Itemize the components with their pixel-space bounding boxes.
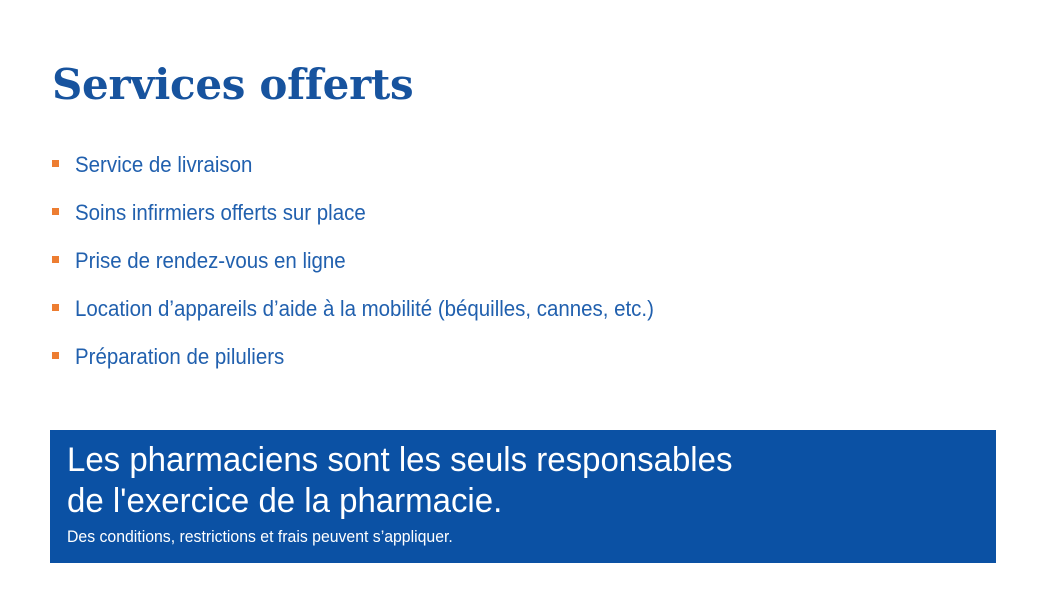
- square-bullet-icon: [52, 256, 59, 263]
- list-item-label: Service de livraison: [75, 152, 252, 178]
- callout-subtext: Des conditions, restrictions et frais pe…: [67, 526, 931, 548]
- list-item-label: Prise de rendez-vous en ligne: [75, 248, 346, 274]
- callout-headline-line-2: de l'exercice de la pharmacie.: [67, 481, 968, 522]
- callout-headline-line-1: Les pharmaciens sont les seuls responsab…: [67, 440, 968, 481]
- list-item-label: Location d’appareils d’aide à la mobilit…: [75, 296, 654, 322]
- list-item-label: Préparation de piluliers: [75, 344, 284, 370]
- square-bullet-icon: [52, 304, 59, 311]
- list-item: Prise de rendez-vous en ligne: [52, 237, 992, 285]
- square-bullet-icon: [52, 208, 59, 215]
- square-bullet-icon: [52, 352, 59, 359]
- list-item: Soins infirmiers offerts sur place: [52, 189, 992, 237]
- list-item: Service de livraison: [52, 141, 992, 189]
- presentation-slide: Services offerts Service de livraison So…: [0, 0, 1050, 600]
- list-item: Préparation de piluliers: [52, 333, 992, 381]
- disclaimer-callout-box: Les pharmaciens sont les seuls responsab…: [50, 430, 996, 563]
- callout-headline: Les pharmaciens sont les seuls responsab…: [67, 440, 968, 522]
- page-title: Services offerts: [52, 61, 413, 109]
- square-bullet-icon: [52, 160, 59, 167]
- services-bullet-list: Service de livraison Soins infirmiers of…: [52, 141, 992, 381]
- list-item: Location d’appareils d’aide à la mobilit…: [52, 285, 992, 333]
- list-item-label: Soins infirmiers offerts sur place: [75, 200, 366, 226]
